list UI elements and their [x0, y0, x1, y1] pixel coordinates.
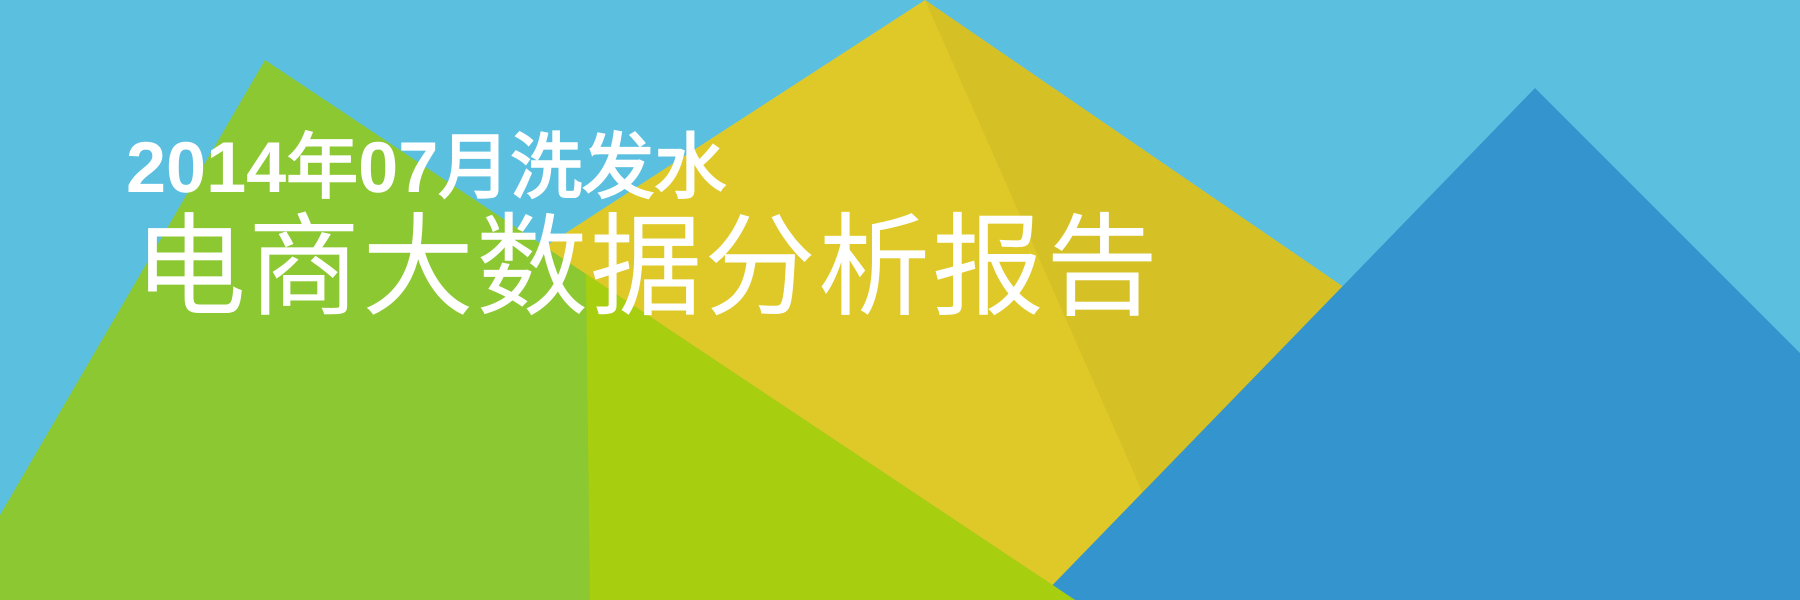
title-slide: 2014年07月洗发水 电商大数据分析报告 — [0, 0, 1800, 600]
title-line-primary: 2014年07月洗发水 — [126, 132, 1426, 204]
title-line-secondary: 电商大数据分析报告 — [126, 212, 1426, 324]
title-block: 2014年07月洗发水 电商大数据分析报告 — [126, 132, 1426, 324]
